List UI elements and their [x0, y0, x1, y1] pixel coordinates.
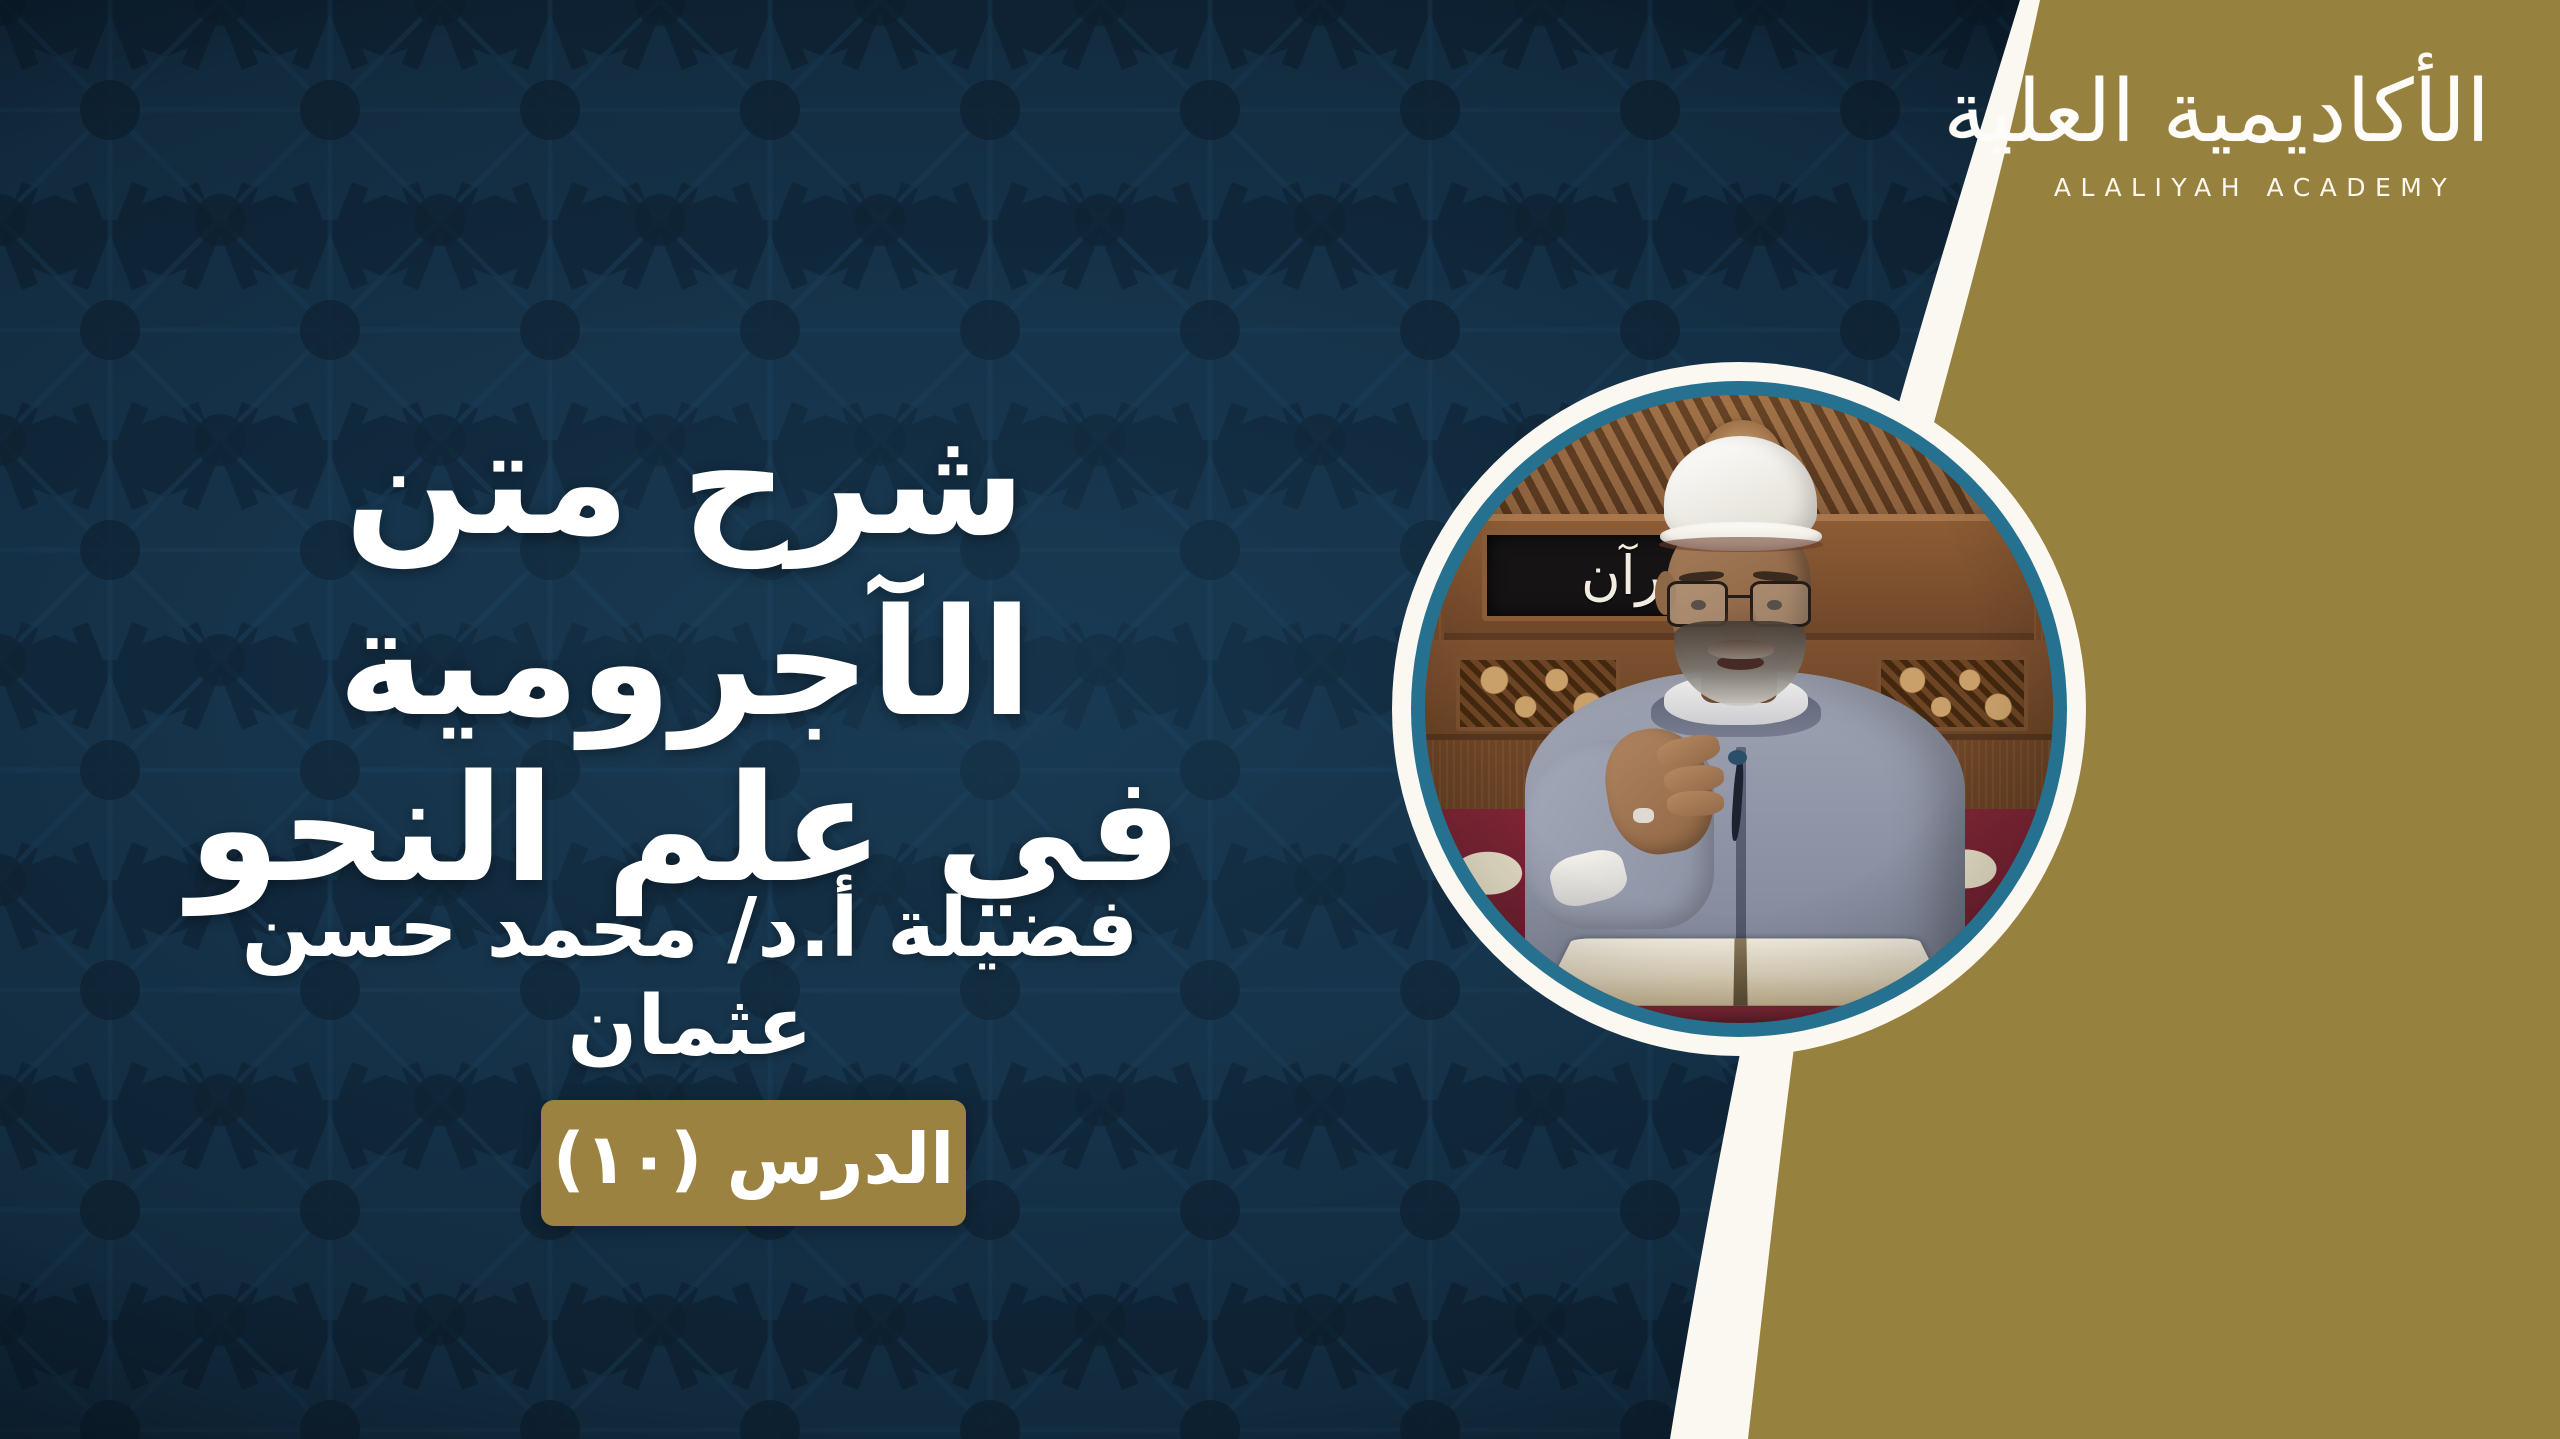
- lesson-number-label: الدرس (١٠): [553, 1124, 954, 1202]
- lesson-number-badge: الدرس (١٠): [541, 1100, 966, 1226]
- instructor-name: فضيلة أ.د/ محمد حسن عثمان: [120, 880, 1260, 1077]
- instructor-portrait: القرآن: [1392, 362, 2086, 1056]
- page-title: شرح متن الآجرومية في علم النحو: [50, 392, 1320, 920]
- academy-logo-latin: ALALIYAH ACADEMY: [2020, 173, 2490, 202]
- academy-logo: الأكاديمية العلية ALALIYAH ACADEMY: [2020, 62, 2490, 202]
- title-line-1: شرح متن الآجرومية: [338, 396, 1032, 749]
- portrait-photo: القرآن: [1425, 395, 2053, 1023]
- academy-logo-arabic: الأكاديمية العلية: [2020, 62, 2490, 163]
- portrait-scene: القرآن: [1425, 395, 2053, 1023]
- lesson-title-card: الأكاديمية العلية ALALIYAH ACADEMY القرآ…: [0, 0, 2560, 1439]
- photo-vignette: [1425, 395, 2053, 1023]
- text-content: شرح متن الآجرومية في علم النحو فضيلة أ.د…: [0, 0, 1390, 1439]
